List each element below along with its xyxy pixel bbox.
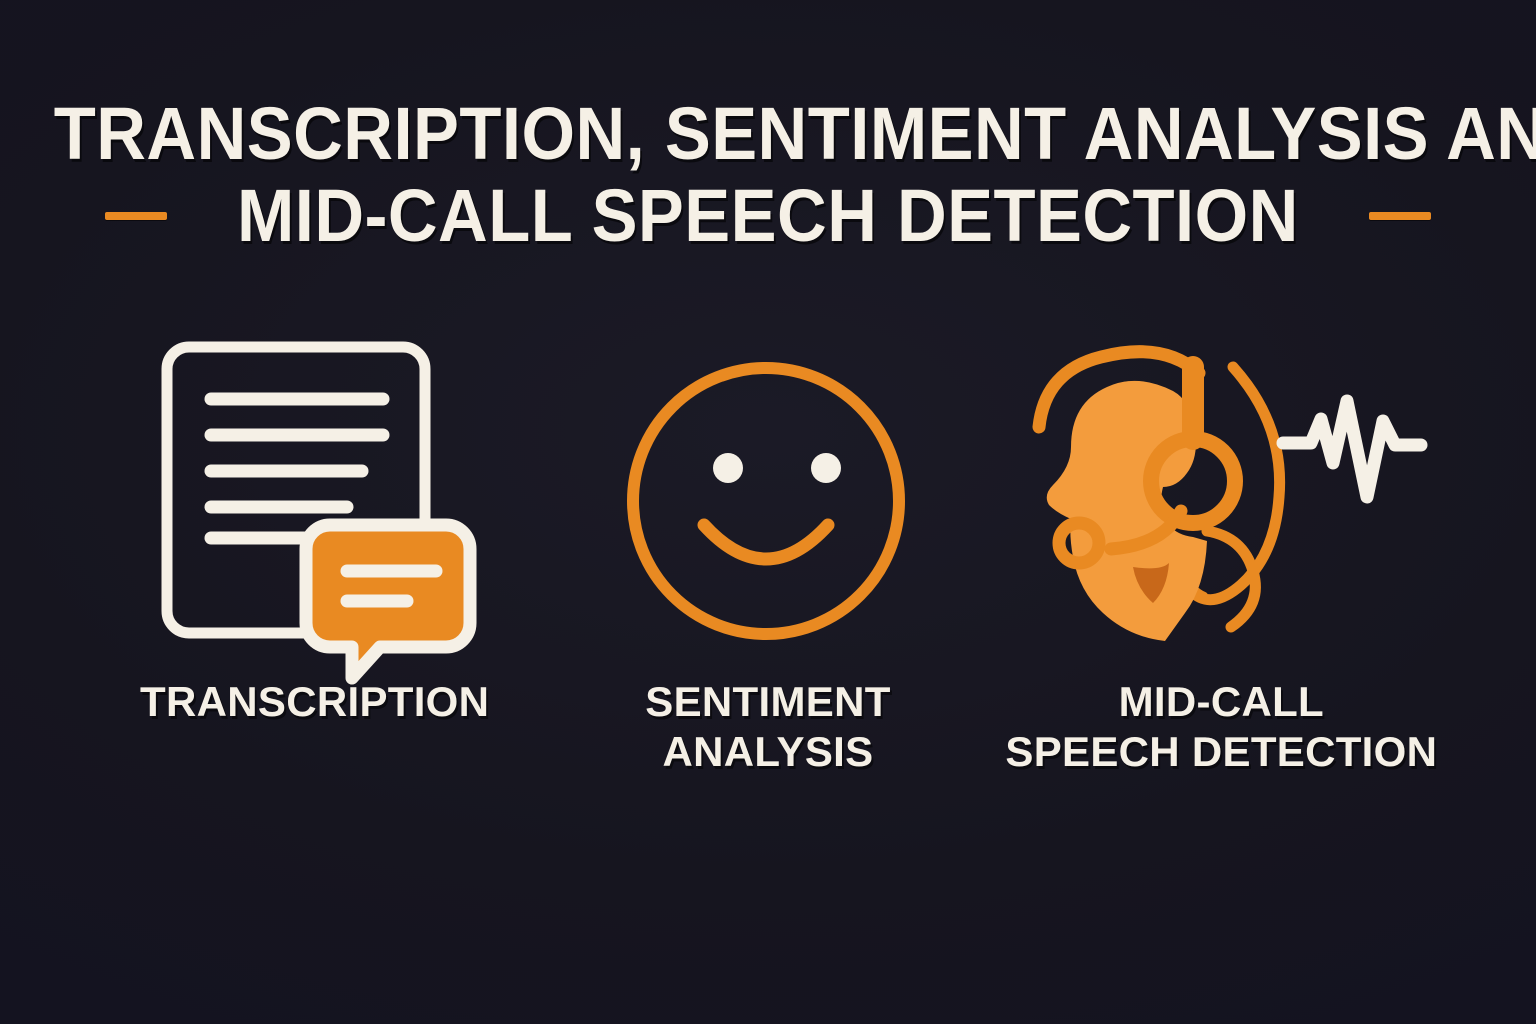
headset-agent-with-waveform-icon [1021,353,1421,653]
feature-midcall-label: MID-CALL SPEECH DETECTION [1005,677,1437,777]
feature-transcription-label: TRANSCRIPTION [140,677,489,727]
feature-sentiment-icon-wrap [618,330,918,675]
feature-sentiment-analysis[interactable]: SENTIMENT ANALYSIS [541,330,994,777]
title-line-2: MID-CALL SPEECH DETECTION [237,174,1299,258]
poster-title: TRANSCRIPTION, SENTIMENT ANALYSIS AND MI… [0,92,1536,258]
poster-canvas: TRANSCRIPTION, SENTIMENT ANALYSIS AND MI… [0,0,1536,1024]
smiley-eye-left-icon [713,453,743,483]
title-rule-left-icon [105,212,167,220]
feature-sentiment-label: SENTIMENT ANALYSIS [645,677,890,777]
speech-bubble-icon [306,525,470,678]
document-with-speech-bubble-icon [155,333,475,673]
audio-waveform-icon [1283,401,1421,497]
feature-transcription[interactable]: TRANSCRIPTION [88,330,541,727]
feature-midcall-icon-wrap [1021,330,1421,675]
document-text-lines-icon [211,399,383,538]
title-line-1: TRANSCRIPTION, SENTIMENT ANALYSIS AND [54,92,1482,176]
feature-mid-call-speech-detection[interactable]: MID-CALL SPEECH DETECTION [995,330,1448,777]
smiley-face-icon [618,353,918,653]
title-rule-right-icon [1369,212,1431,220]
feature-transcription-icon-wrap [155,330,475,675]
smiley-ring-icon [633,368,899,634]
title-line-2-row: MID-CALL SPEECH DETECTION [0,174,1536,258]
feature-row: TRANSCRIPTION SENTIMENT ANALYSIS [88,330,1448,777]
smiley-eye-right-icon [811,453,841,483]
smiley-mouth-icon [704,525,828,559]
